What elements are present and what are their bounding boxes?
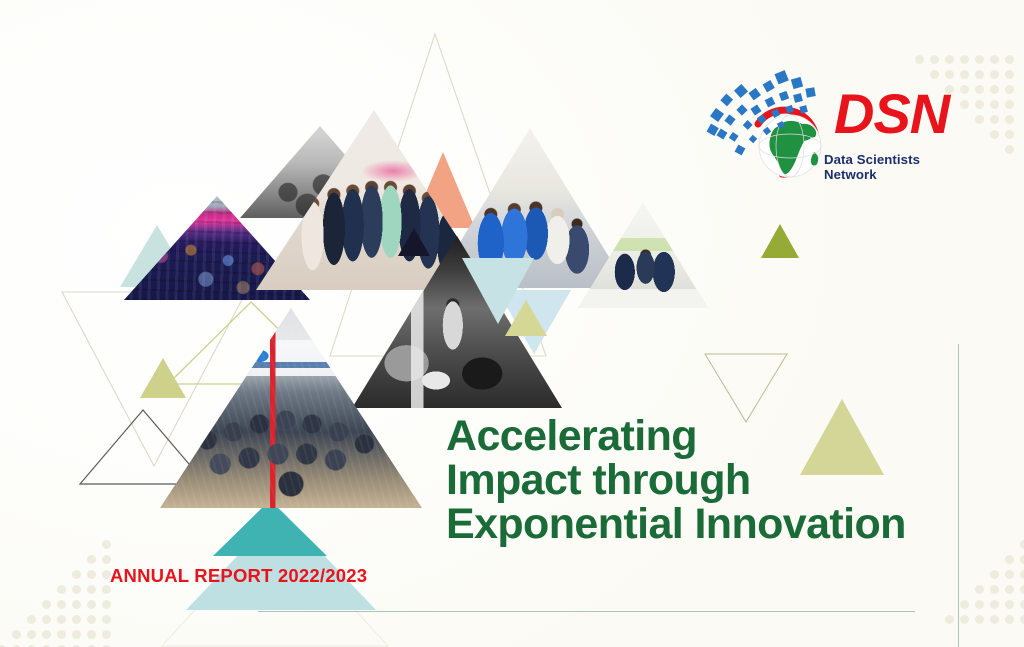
navy-triangle-small xyxy=(398,228,430,256)
dsn-wordmark: DSN xyxy=(834,86,949,142)
photo-workshop-bw-2 xyxy=(378,270,526,376)
photo-laptop-pair xyxy=(578,202,708,308)
dsn-logo: DSN Data Scientists Network xyxy=(706,66,966,186)
dot-pattern-bottom-left xyxy=(0,540,117,647)
olive-triangle xyxy=(761,224,799,258)
horizontal-rule xyxy=(258,611,915,612)
dsn-tagline: Data Scientists Network xyxy=(824,152,966,182)
teal-triangle xyxy=(213,500,327,556)
dot-pattern-bottom-right xyxy=(930,540,1024,630)
page-title: Accelerating Impact through Exponential … xyxy=(446,414,966,546)
annual-report-cover: Accelerating Impact through Exponential … xyxy=(0,0,1024,647)
report-label: ANNUAL REPORT 2022/2023 xyxy=(110,565,367,587)
